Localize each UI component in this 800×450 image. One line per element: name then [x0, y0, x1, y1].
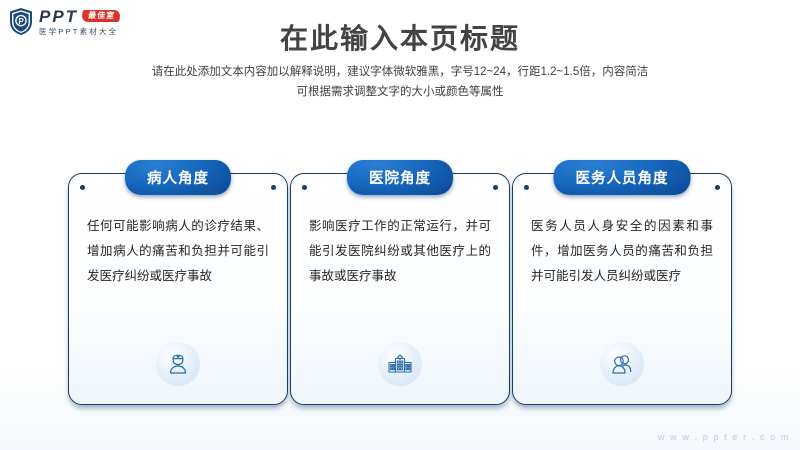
hospital-building-icon	[378, 342, 422, 386]
screw-dot-right	[715, 185, 720, 190]
card-text-staff: 医务人员人身安全的因素和事件，增加医务人员的痛苦和负担并可能引发人员纠纷或医疗	[531, 214, 713, 289]
subtitle-line-1: 请在此处添加文本内容加以解释说明，建议字体微软雅黑，字号12~24，行距1.2~…	[0, 62, 800, 82]
people-group-icon	[600, 342, 644, 386]
card-patient[interactable]: 病人角度 任何可能影响病人的诊疗结果、增加病人的痛苦和负担并可能引发医疗纠纷或医…	[68, 160, 288, 405]
page-subtitle: 请在此处添加文本内容加以解释说明，建议字体微软雅黑，字号12~24，行距1.2~…	[0, 62, 800, 102]
screw-dot-left	[302, 185, 307, 190]
card-row: 病人角度 任何可能影响病人的诊疗结果、增加病人的痛苦和负担并可能引发医疗纠纷或医…	[68, 160, 732, 405]
card-text-patient: 任何可能影响病人的诊疗结果、增加病人的痛苦和负担并可能引发医疗纠纷或医疗事故	[87, 214, 269, 289]
card-body-patient: 任何可能影响病人的诊疗结果、增加病人的痛苦和负担并可能引发医疗纠纷或医疗事故	[68, 173, 288, 405]
card-pill-staff[interactable]: 医务人员角度	[554, 160, 691, 195]
card-pill-hospital[interactable]: 医院角度	[347, 160, 453, 195]
slide-canvas: P PPT 最佳室 医学PPT素材大全 在此输入本页标题 请在此处添加文本内容加…	[0, 0, 800, 450]
card-pill-patient[interactable]: 病人角度	[125, 160, 231, 195]
screw-dot-left	[80, 185, 85, 190]
page-title: 在此输入本页标题	[0, 17, 800, 57]
subtitle-line-2: 可根据需求调整文字的大小或颜色等属性	[0, 82, 800, 102]
card-body-hospital: 影响医疗工作的正常运行，并可能引发医院纠纷或其他医疗上的事故或医疗事故	[290, 173, 510, 405]
card-text-hospital: 影响医疗工作的正常运行，并可能引发医院纠纷或其他医疗上的事故或医疗事故	[309, 214, 491, 289]
footer-watermark: w w w . p p t e r . c o m	[658, 432, 790, 442]
card-staff[interactable]: 医务人员角度 医务人员人身安全的因素和事件，增加医务人员的痛苦和负担并可能引发人…	[512, 160, 732, 405]
screw-dot-right	[493, 185, 498, 190]
screw-dot-right	[271, 185, 276, 190]
card-hospital[interactable]: 医院角度 影响医疗工作的正常运行，并可能引发医院纠纷或其他医疗上的事故或医疗事故	[290, 160, 510, 405]
screw-dot-left	[524, 185, 529, 190]
doctor-person-icon	[156, 342, 200, 386]
card-body-staff: 医务人员人身安全的因素和事件，增加医务人员的痛苦和负担并可能引发人员纠纷或医疗	[512, 173, 732, 405]
